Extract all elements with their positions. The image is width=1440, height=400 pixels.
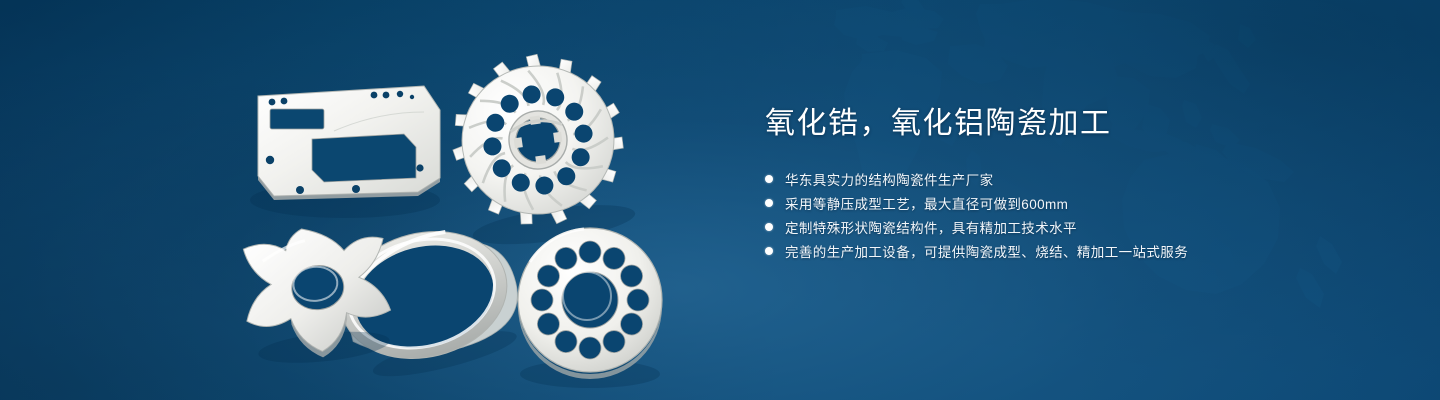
banner-copy: 氧化锆，氧化铝陶瓷加工 华东具实力的结构陶瓷件生产厂家 采用等静压成型工艺，最大… xyxy=(765,104,1405,263)
list-item-label: 采用等静压成型工艺，最大直径可做到600mm xyxy=(785,193,1068,213)
bullet-dot-icon xyxy=(765,175,773,183)
feature-list: 华东具实力的结构陶瓷件生产厂家 采用等静压成型工艺，最大直径可做到600mm 定… xyxy=(765,167,1405,262)
bullet-dot-icon xyxy=(765,247,773,255)
list-item: 华东具实力的结构陶瓷件生产厂家 xyxy=(765,167,1405,190)
list-item: 完善的生产加工设备，可提供陶瓷成型、烧结、精加工一站式服务 xyxy=(765,239,1405,262)
list-item: 采用等静压成型工艺，最大直径可做到600mm xyxy=(765,191,1405,214)
list-item-label: 华东具实力的结构陶瓷件生产厂家 xyxy=(785,169,994,189)
ceramic-plate xyxy=(250,86,440,218)
list-item: 定制特殊形状陶瓷结构件，具有精加工技术水平 xyxy=(765,215,1405,238)
ceramic-products-image xyxy=(0,0,760,400)
promotional-banner: 氧化锆，氧化铝陶瓷加工 华东具实力的结构陶瓷件生产厂家 采用等静压成型工艺，最大… xyxy=(0,0,1440,400)
bullet-dot-icon xyxy=(765,223,773,231)
bullet-dot-icon xyxy=(765,199,773,207)
banner-headline: 氧化锆，氧化铝陶瓷加工 xyxy=(765,104,1405,143)
list-item-label: 定制特殊形状陶瓷结构件，具有精加工技术水平 xyxy=(785,217,1077,237)
list-item-label: 完善的生产加工设备，可提供陶瓷成型、烧结、精加工一站式服务 xyxy=(785,241,1188,261)
ceramic-perforated-disc xyxy=(518,228,662,388)
